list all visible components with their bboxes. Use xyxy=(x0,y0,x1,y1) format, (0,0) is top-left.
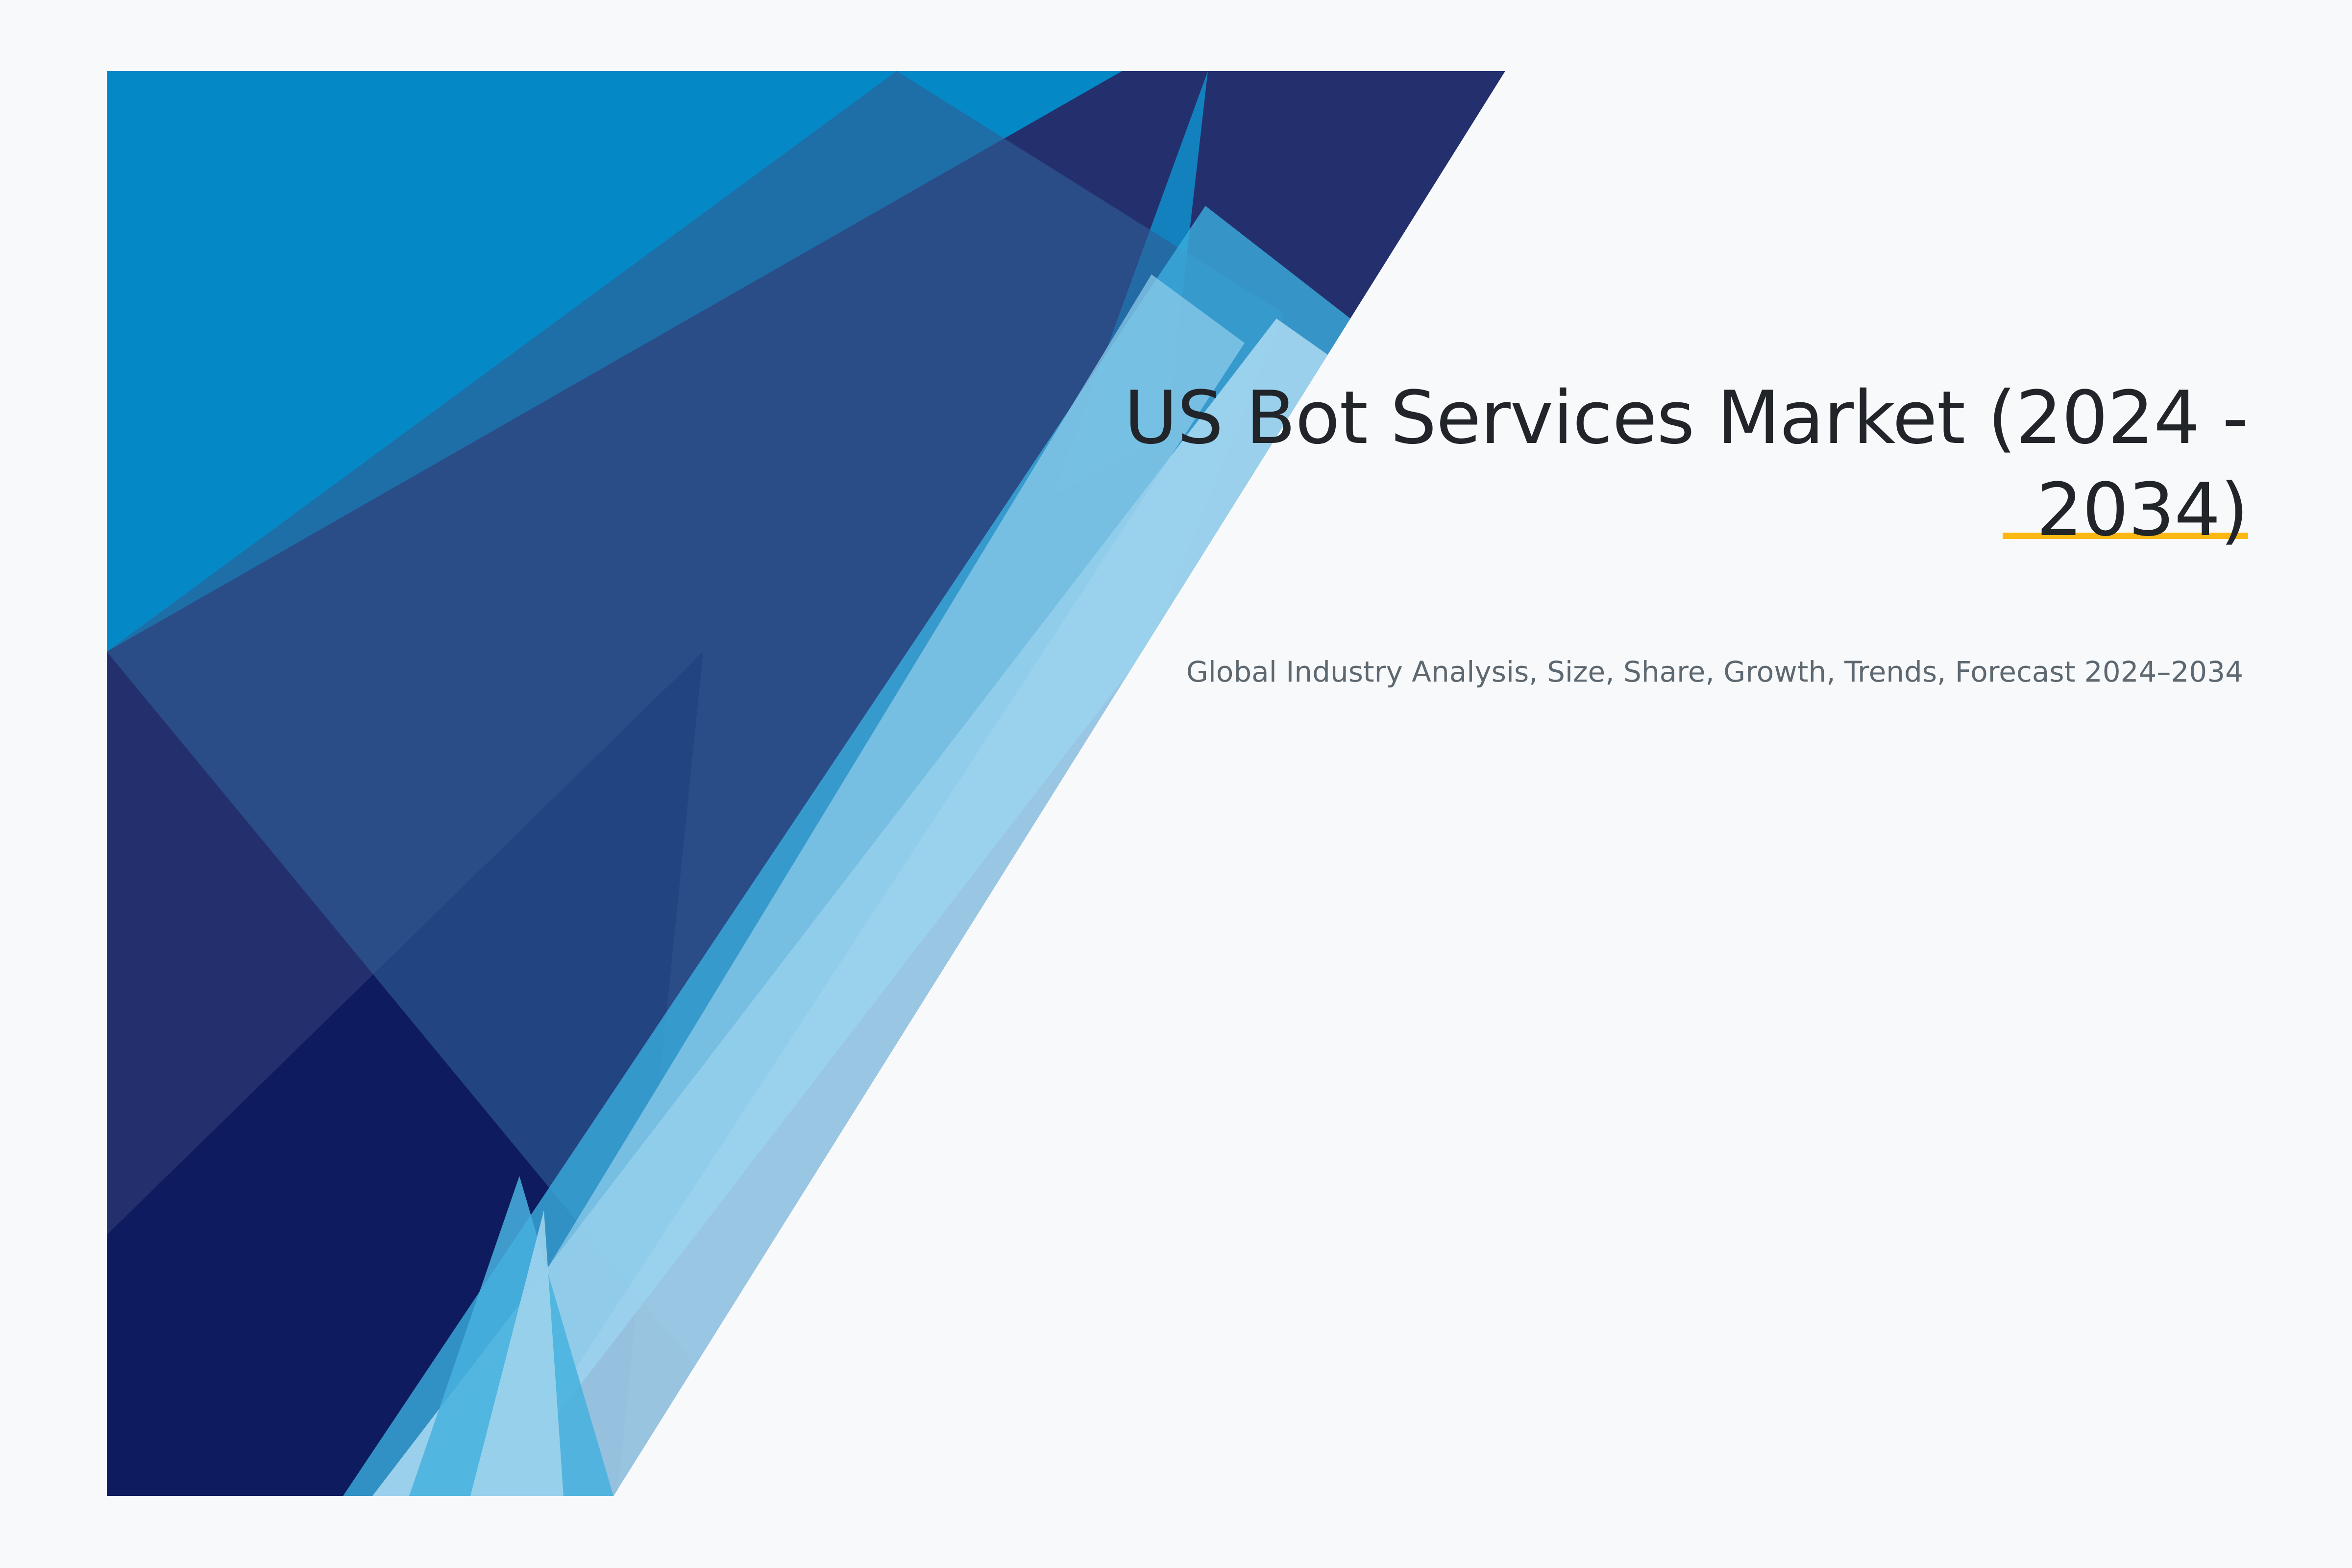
page-subtitle: Global Industry Analysis, Size, Share, G… xyxy=(1165,652,2243,692)
cover-slide: US Bot Services Market (2024 - 2034) Glo… xyxy=(0,0,2352,1568)
title-block: US Bot Services Market (2024 - 2034) xyxy=(974,372,2248,556)
page-title: US Bot Services Market (2024 - 2034) xyxy=(974,372,2248,556)
abstract-geometric-cover-graphic xyxy=(0,0,2352,1568)
